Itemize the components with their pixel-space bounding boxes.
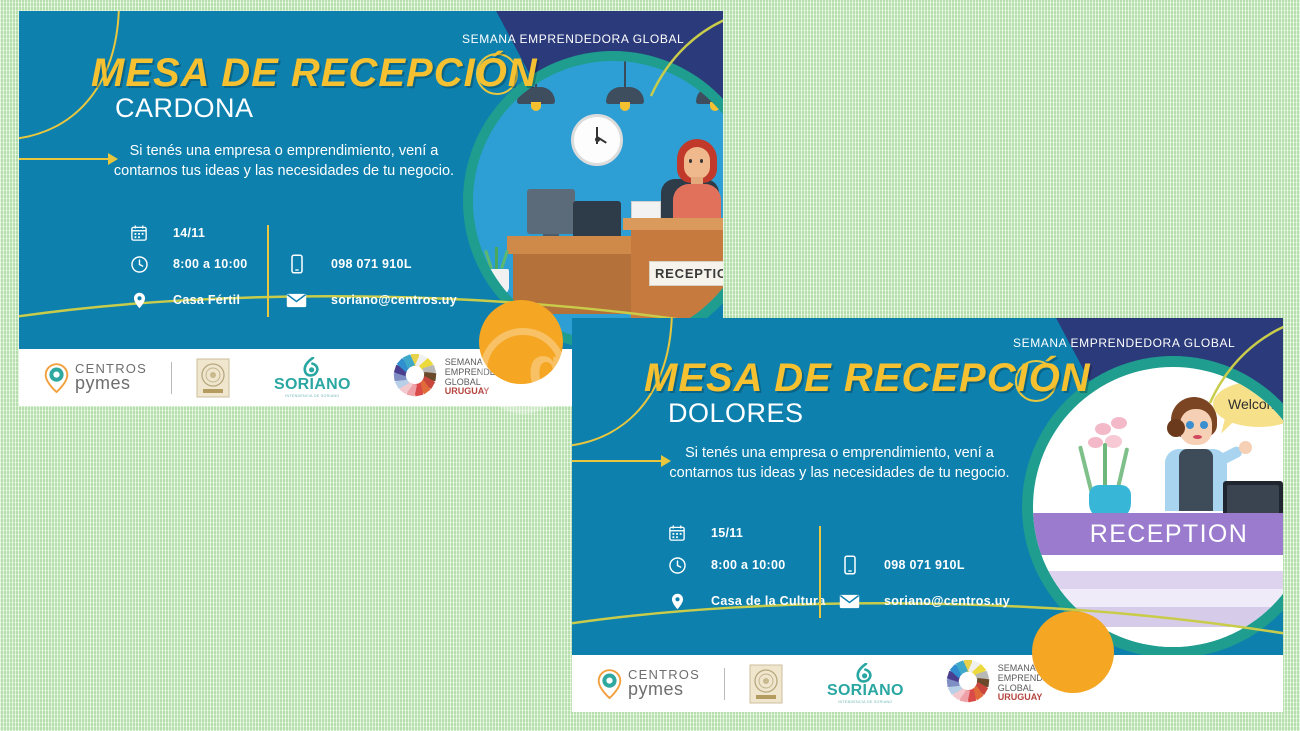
receptionist-vest bbox=[1179, 449, 1213, 511]
potted-plant-icon bbox=[485, 247, 511, 269]
color-wheel-icon bbox=[946, 659, 990, 708]
info-row-email: soriano@centros.uy bbox=[838, 591, 1010, 611]
flyer-dolores-body: Welcome! RECEPTION bbox=[572, 318, 1283, 655]
flyer-title: MESA DE RECEPCIÓN bbox=[91, 51, 538, 96]
color-wheel-icon bbox=[393, 353, 437, 402]
header-label: SEMANA EMPRENDEDORA GLOBAL bbox=[1013, 336, 1235, 350]
pendant-lamp-cord bbox=[624, 61, 626, 87]
calendar-icon bbox=[667, 523, 687, 543]
envelope-icon bbox=[285, 290, 307, 310]
flyer-dolores-footer: CENTROS pymes bbox=[572, 655, 1283, 712]
receptionist-eye bbox=[1200, 421, 1208, 429]
decorative-yellow-circle bbox=[1032, 611, 1114, 693]
cpu-tower-icon bbox=[573, 201, 621, 241]
soriano-mark-icon bbox=[827, 663, 904, 683]
flyer-cardona-body: RECEPTION bbox=[19, 11, 723, 349]
decorative-arrow-line bbox=[19, 158, 109, 160]
tagline-line-2: contarnos tus ideas y las necesidades de… bbox=[99, 162, 469, 182]
mobile-phone-icon bbox=[840, 555, 860, 575]
info-row-place: Casa de la Cultura bbox=[667, 591, 825, 611]
flower-petal bbox=[1088, 437, 1103, 448]
reception-desk-sign-band: RECEPTION bbox=[1033, 513, 1283, 555]
clock-icon bbox=[129, 254, 149, 274]
info-time-value: 8:00 a 10:00 bbox=[173, 257, 248, 271]
info-row-email: soriano@centros.uy bbox=[285, 290, 457, 310]
wall-clock-icon bbox=[571, 114, 623, 166]
flyer-title: MESA DE RECEPCIÓN bbox=[644, 356, 1091, 401]
seg-line-4: URUGUAY bbox=[998, 693, 1075, 703]
location-pin-icon bbox=[667, 591, 687, 611]
intendencia-crest-logo bbox=[196, 358, 230, 398]
centros-pymes-logo: CENTROS pymes bbox=[597, 669, 700, 699]
receptionist-eye bbox=[689, 159, 692, 163]
soriano-subtitle: INTENDENCIA DE SORIANO bbox=[827, 701, 904, 705]
soriano-wordmark: SORIANO INTENDENCIA DE SORIANO bbox=[827, 663, 904, 705]
decorative-yellow-circle bbox=[479, 300, 563, 384]
soriano-wordmark: SORIANO INTENDENCIA DE SORIANO bbox=[274, 357, 351, 399]
flyer-tagline: Si tenés una empresa o emprendimiento, v… bbox=[99, 142, 469, 181]
receptionist-figure bbox=[669, 139, 723, 229]
centros-line-2: pymes bbox=[75, 375, 147, 392]
soriano-subtitle: INTENDENCIA DE SORIANO bbox=[274, 395, 351, 399]
logo-divider bbox=[171, 362, 172, 394]
flyer-dolores: Welcome! RECEPTION bbox=[572, 318, 1283, 712]
info-place-value: Casa Fértil bbox=[173, 293, 240, 307]
flower-petal bbox=[1111, 417, 1127, 429]
centros-pymes-wordmark: CENTROS pymes bbox=[628, 669, 700, 698]
logo-divider bbox=[724, 668, 725, 700]
receptionist-hair-bun bbox=[1167, 419, 1185, 437]
location-pin-icon bbox=[129, 290, 149, 310]
info-email-value: soriano@centros.uy bbox=[884, 594, 1010, 608]
receptionist-eye bbox=[1186, 421, 1194, 429]
pendant-lamp-bulb bbox=[531, 102, 541, 111]
flower-petal bbox=[1105, 435, 1122, 448]
info-place-value: Casa de la Cultura bbox=[711, 594, 825, 608]
flyer-subtitle: DOLORES bbox=[668, 398, 804, 429]
decorative-arc-navy-corner bbox=[1198, 318, 1283, 408]
seg-line-4: URUGUAY bbox=[445, 387, 522, 397]
info-row-place: Casa Fértil bbox=[129, 290, 240, 310]
centros-pymes-wordmark: CENTROS pymes bbox=[75, 363, 147, 392]
info-divider bbox=[819, 526, 821, 618]
info-phone-value: 098 071 910L bbox=[884, 558, 965, 572]
soriano-logo: SORIANO INTENDENCIA DE SORIANO bbox=[827, 663, 904, 705]
info-divider bbox=[267, 225, 269, 317]
flower-petal bbox=[1095, 423, 1111, 435]
tagline-line-2: contarnos tus ideas y las necesidades de… bbox=[652, 464, 1027, 484]
centros-pymes-pin-icon bbox=[597, 669, 622, 699]
soriano-name: SORIANO bbox=[274, 377, 351, 393]
calendar-icon bbox=[129, 223, 149, 243]
decorative-arc-navy-corner bbox=[639, 11, 723, 101]
soriano-mark-icon bbox=[274, 357, 351, 377]
soriano-logo: SORIANO INTENDENCIA DE SORIANO bbox=[274, 357, 351, 399]
soriano-name: SORIANO bbox=[827, 683, 904, 699]
receptionist-eye bbox=[700, 159, 703, 163]
info-time-value: 8:00 a 10:00 bbox=[711, 558, 786, 572]
receptionist-hand bbox=[1239, 441, 1252, 454]
info-row-date: 14/11 bbox=[129, 223, 205, 243]
reception-sign-label: RECEPTION bbox=[1090, 520, 1248, 549]
centros-pymes-pin-icon bbox=[44, 363, 69, 393]
mobile-phone-icon bbox=[287, 254, 307, 274]
reception-desk bbox=[507, 236, 637, 254]
flyer-subtitle: CARDONA bbox=[115, 93, 254, 124]
info-row-time: 8:00 a 10:00 bbox=[667, 555, 786, 575]
clock-icon bbox=[667, 555, 687, 575]
info-row-time: 8:00 a 10:00 bbox=[129, 254, 248, 274]
flyer-tagline: Si tenés una empresa o emprendimiento, v… bbox=[652, 444, 1027, 483]
receptionist-lips bbox=[1193, 435, 1202, 439]
header-label: SEMANA EMPRENDEDORA GLOBAL bbox=[462, 32, 684, 46]
image-canvas: RECEPTION bbox=[0, 0, 1300, 731]
info-row-phone: 098 071 910L bbox=[287, 254, 412, 274]
tagline-line-1: Si tenés una empresa o emprendimiento, v… bbox=[652, 444, 1027, 464]
centros-pymes-logo: CENTROS pymes bbox=[44, 363, 147, 393]
reception-desk-body bbox=[1033, 555, 1283, 571]
pendant-lamp-bulb bbox=[620, 102, 630, 111]
info-date-value: 15/11 bbox=[711, 526, 743, 540]
info-email-value: soriano@centros.uy bbox=[331, 293, 457, 307]
receptionist-face bbox=[684, 147, 710, 179]
monitor-icon bbox=[527, 189, 575, 234]
pendant-lamp-bulb bbox=[710, 102, 720, 111]
info-date-value: 14/11 bbox=[173, 226, 205, 240]
info-row-date: 15/11 bbox=[667, 523, 743, 543]
centros-line-2: pymes bbox=[628, 681, 700, 698]
info-phone-value: 098 071 910L bbox=[331, 257, 412, 271]
tagline-line-1: Si tenés una empresa o emprendimiento, v… bbox=[99, 142, 469, 162]
envelope-icon bbox=[838, 591, 860, 611]
intendencia-crest-logo bbox=[749, 664, 783, 704]
reception-desk-top bbox=[623, 218, 723, 230]
decorative-arrow-line bbox=[572, 460, 662, 462]
info-row-phone: 098 071 910L bbox=[840, 555, 965, 575]
